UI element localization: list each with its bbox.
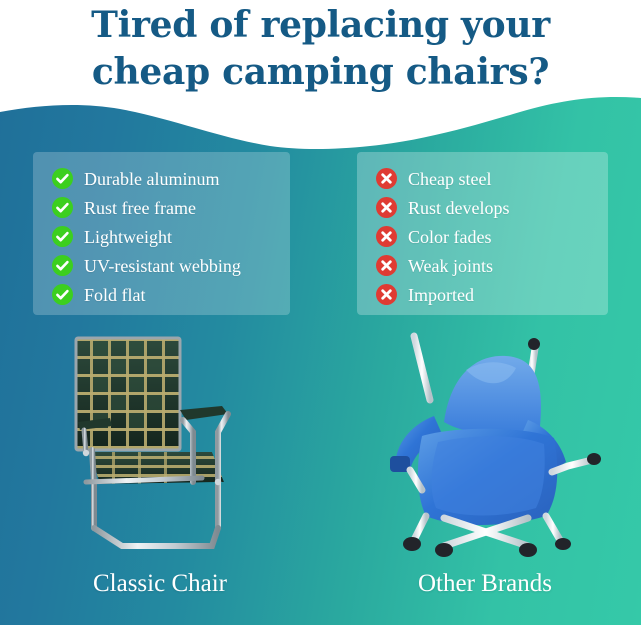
feature-label: Color fades [408, 227, 491, 247]
product-image-other-brands-chair [378, 330, 622, 566]
product-image-classic-chair [52, 332, 278, 564]
list-item: Durable aluminum [43, 164, 280, 193]
x-circle-icon [376, 284, 397, 305]
page-title: Tired of replacing your cheap camping ch… [0, 2, 641, 96]
list-item: Rust free frame [43, 193, 280, 222]
infographic-poster: Tired of replacing your cheap camping ch… [0, 0, 641, 625]
check-circle-icon [52, 168, 73, 189]
feature-label: Cheap steel [408, 169, 491, 189]
check-circle-icon [52, 255, 73, 276]
x-circle-icon [376, 168, 397, 189]
list-item: UV-resistant webbing [43, 251, 280, 280]
feature-label: Rust develops [408, 198, 510, 218]
feature-label: Lightweight [84, 227, 172, 247]
list-item: Weak joints [367, 251, 598, 280]
feature-label: Fold flat [84, 285, 146, 305]
headline-line-2: cheap camping chairs? [0, 49, 641, 96]
list-item: Rust develops [367, 193, 598, 222]
feature-label: UV-resistant webbing [84, 256, 241, 276]
list-item: Fold flat [43, 280, 280, 309]
feature-label: Weak joints [408, 256, 493, 276]
list-item: Cheap steel [367, 164, 598, 193]
caption-classic-chair: Classic Chair [30, 569, 290, 599]
caption-other-brands: Other Brands [355, 569, 615, 599]
check-circle-icon [52, 226, 73, 247]
x-circle-icon [376, 226, 397, 247]
headline-line-1: Tired of replacing your [91, 4, 550, 46]
list-item: Color fades [367, 222, 598, 251]
feature-label: Durable aluminum [84, 169, 219, 189]
cons-card: Cheap steel Rust develops Color fades We… [357, 152, 608, 315]
check-circle-icon [52, 284, 73, 305]
check-circle-icon [52, 197, 73, 218]
feature-label: Imported [408, 285, 474, 305]
feature-label: Rust free frame [84, 198, 196, 218]
list-item: Lightweight [43, 222, 280, 251]
x-circle-icon [376, 255, 397, 276]
pros-card: Durable aluminum Rust free frame Lightwe… [33, 152, 290, 315]
x-circle-icon [376, 197, 397, 218]
list-item: Imported [367, 280, 598, 309]
